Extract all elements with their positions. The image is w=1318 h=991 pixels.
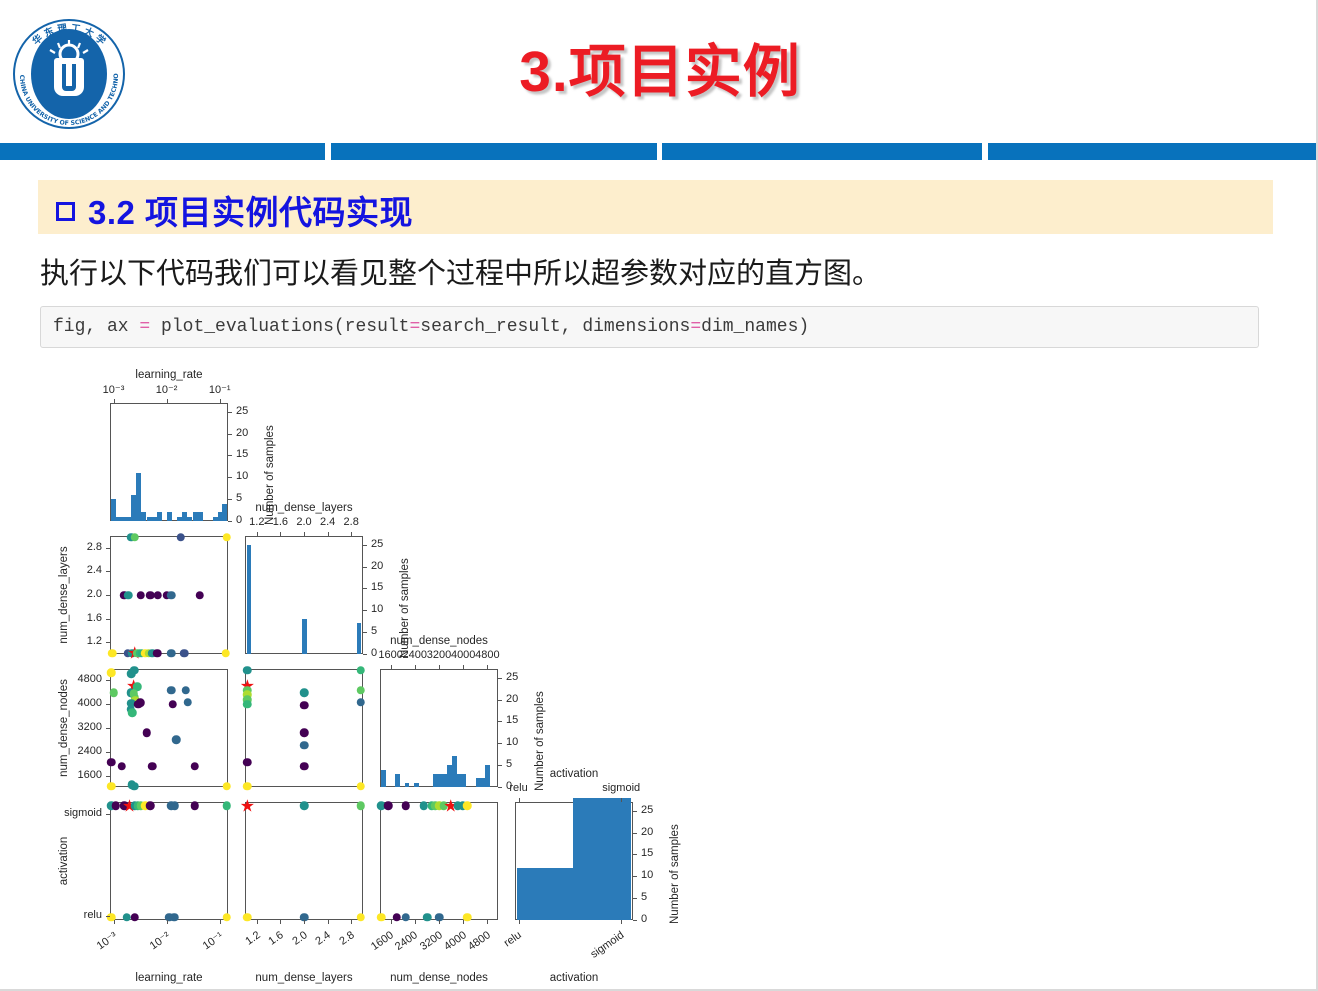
bottom-tick-2-3 bbox=[463, 920, 464, 924]
bottom-tick-2-4 bbox=[487, 920, 488, 924]
code-operator-1: = bbox=[139, 317, 150, 337]
top-ticklabel-0-1: 10⁻² bbox=[156, 383, 178, 396]
top-axis-label-2: num_dense_nodes bbox=[390, 635, 488, 647]
top-ticklabel-3-0: relu bbox=[509, 782, 527, 794]
scatter-point-2-0-24 bbox=[191, 762, 200, 771]
top-axis-label-1: num_dense_layers bbox=[255, 502, 352, 514]
hist-bar-0-22 bbox=[222, 504, 227, 521]
bottom-tick-2-2 bbox=[439, 920, 440, 924]
scatter-point-2-0-22 bbox=[118, 762, 127, 771]
scatter-point-3-0-14 bbox=[122, 913, 131, 922]
code-part-4: dim_names) bbox=[701, 317, 809, 337]
hist-ticklabel-0-0: 0 bbox=[236, 514, 242, 526]
scatter-point-2-1-0 bbox=[243, 666, 252, 675]
hist-bar-3-1 bbox=[573, 798, 631, 920]
scatter-point-3-0-1 bbox=[112, 801, 121, 810]
scatter-point-2-1-5 bbox=[243, 700, 252, 709]
scatter-point-3-0-11 bbox=[191, 801, 200, 810]
hist-tick-2-25 bbox=[498, 678, 502, 679]
scatter-point-3-2-13 bbox=[392, 913, 401, 922]
scatter-point-2-1-10 bbox=[300, 728, 309, 737]
left-ticklabel-1-1: 1.6 bbox=[87, 612, 102, 624]
scatter-point-2-0-14 bbox=[109, 688, 118, 697]
hist-ticklabel-3-25: 25 bbox=[641, 804, 653, 816]
code-line: fig, ax = plot_evaluations(result=search… bbox=[53, 317, 809, 337]
bottom-ticklabel-2-0: 1600 bbox=[369, 929, 396, 953]
hist-tick-1-5 bbox=[363, 632, 367, 633]
scatter-point-3-0-8 bbox=[146, 801, 155, 810]
hist-bar-1-0 bbox=[247, 545, 251, 654]
hist-tick-2-5 bbox=[498, 765, 502, 766]
accent-bar-segment-4 bbox=[988, 143, 1316, 160]
hist-bar-2-16 bbox=[461, 774, 466, 787]
left-axis-label-1: num_dense_layers bbox=[58, 546, 70, 643]
hist-tick-2-10 bbox=[498, 743, 502, 744]
scatter-point-1-0-0 bbox=[108, 649, 117, 658]
page-title: 3.项目实例 bbox=[330, 26, 990, 108]
top-tick-0-1 bbox=[167, 399, 168, 403]
bottom-tick-2-0 bbox=[391, 920, 392, 924]
scatter-point-3-1-1 bbox=[300, 801, 309, 810]
hist-bar-2-5 bbox=[405, 783, 410, 787]
scatter-point-2-0-13 bbox=[128, 708, 137, 717]
scatter-point-3-0-10 bbox=[171, 801, 180, 810]
top-tick-0-2 bbox=[220, 399, 221, 403]
scatter-point-1-0-15 bbox=[124, 591, 133, 600]
top-tick-1-4 bbox=[351, 532, 352, 536]
hist-bar-2-7 bbox=[414, 783, 419, 787]
left-ticklabel-1-4: 2.8 bbox=[87, 541, 102, 553]
left-tick-2-2 bbox=[106, 728, 110, 729]
left-axis-label-3: activation bbox=[58, 837, 70, 886]
hist-ticklabel-1-5: 5 bbox=[371, 625, 377, 637]
histogram-panel-3-3: activationrelusigmoid0510152025Number of… bbox=[515, 802, 633, 920]
top-tick-3-1 bbox=[621, 798, 622, 802]
hist-ticklabel-0-20: 20 bbox=[236, 427, 248, 439]
left-tick-3-1 bbox=[106, 814, 110, 815]
scatter-point-2-0-28 bbox=[223, 782, 232, 791]
scatter-point-3-0-18 bbox=[223, 913, 232, 922]
bottom-ticklabel-2-1: 2400 bbox=[393, 929, 420, 953]
top-axis-label-3: activation bbox=[550, 768, 599, 780]
hist-tick-1-15 bbox=[363, 588, 367, 589]
bottom-ticklabel-0-1: 10⁻² bbox=[147, 929, 172, 952]
bottom-ticklabel-3-1: sigmoid bbox=[589, 929, 627, 961]
hist-tick-1-25 bbox=[363, 545, 367, 546]
hist-tick-0-15 bbox=[228, 455, 232, 456]
hist-bar-3-0 bbox=[517, 868, 572, 920]
hist-bar-2-3 bbox=[395, 774, 400, 787]
left-tick-2-4 bbox=[106, 680, 110, 681]
scatter-point-3-2-17 bbox=[463, 913, 472, 922]
bottom-tick-1-1 bbox=[280, 920, 281, 924]
hist-tick-1-20 bbox=[363, 567, 367, 568]
scatter-point-3-0-17 bbox=[170, 913, 179, 922]
scatter-point-2-1-13 bbox=[356, 666, 365, 675]
scatter-point-1-0-21 bbox=[195, 591, 204, 600]
hist-tick-3-10 bbox=[633, 876, 637, 877]
body-paragraph: 执行以下代码我们可以看见整个过程中所以超参数对应的直方图。 bbox=[40, 250, 881, 292]
top-tick-2-1 bbox=[415, 665, 416, 669]
scatter-point-3-2-15 bbox=[423, 913, 432, 922]
scatter-point-2-0-19 bbox=[142, 728, 151, 737]
bottom-tick-1-3 bbox=[328, 920, 329, 924]
bottom-ticklabel-1-4: 2.8 bbox=[337, 929, 356, 948]
left-tick-1-2 bbox=[106, 595, 110, 596]
scatter-point-2-1-15 bbox=[356, 698, 365, 707]
left-ticklabel-1-0: 1.2 bbox=[87, 635, 102, 647]
left-ticklabel-3-1: sigmoid bbox=[64, 807, 102, 819]
bottom-axis-label-3: activation bbox=[550, 972, 599, 984]
best-result-star-3-1-0: ★ bbox=[240, 797, 255, 814]
hist-ticklabel-2-15: 15 bbox=[506, 714, 518, 726]
bottom-tick-2-1 bbox=[415, 920, 416, 924]
left-tick-2-1 bbox=[106, 752, 110, 753]
left-tick-2-3 bbox=[106, 704, 110, 705]
hist-ticklabel-2-5: 5 bbox=[506, 758, 512, 770]
hist-tick-2-0 bbox=[498, 787, 502, 788]
top-tick-2-0 bbox=[391, 665, 392, 669]
hist-ticklabel-1-25: 25 bbox=[371, 538, 383, 550]
scatter-point-2-1-6 bbox=[243, 758, 252, 767]
hist-bar-0-6 bbox=[141, 512, 146, 521]
hist-ticklabel-1-10: 10 bbox=[371, 603, 383, 615]
scatter-point-1-0-24 bbox=[177, 533, 186, 542]
code-block[interactable]: fig, ax = plot_evaluations(result=search… bbox=[40, 306, 1259, 348]
scatter-point-1-0-11 bbox=[167, 649, 176, 658]
bottom-tick-1-0 bbox=[257, 920, 258, 924]
top-tick-2-3 bbox=[463, 665, 464, 669]
bottom-tick-3-0 bbox=[519, 920, 520, 924]
scatter-point-1-0-10 bbox=[153, 649, 162, 658]
hist-ticklabel-3-10: 10 bbox=[641, 869, 653, 881]
top-tick-3-0 bbox=[519, 798, 520, 802]
histogram-panel-0-0: learning_rate10⁻³10⁻²10⁻¹0510152025Numbe… bbox=[110, 403, 228, 521]
hist-ticklabel-3-5: 5 bbox=[641, 891, 647, 903]
hist-ticklabel-3-20: 20 bbox=[641, 826, 653, 838]
bottom-ticklabel-2-2: 3200 bbox=[418, 929, 445, 953]
hist-bar-2-20 bbox=[485, 765, 490, 787]
scatter-point-3-0-12 bbox=[223, 801, 232, 810]
top-axis-label-0: learning_rate bbox=[135, 369, 202, 381]
panel-frame-0-0 bbox=[110, 403, 228, 521]
hist-ticklabel-0-10: 10 bbox=[236, 470, 248, 482]
left-tick-3-0 bbox=[106, 916, 110, 917]
accent-bar-segment-2 bbox=[331, 143, 657, 160]
hist-tick-3-20 bbox=[633, 833, 637, 834]
hist-ylabel-3: Number of samples bbox=[669, 824, 681, 924]
hist-tick-3-0 bbox=[633, 920, 637, 921]
bottom-axis-label-1: num_dense_layers bbox=[255, 972, 352, 984]
left-ticklabel-1-2: 2.0 bbox=[87, 588, 102, 600]
scatter-panel-3-2: ★num_dense_nodes16002400320040004800 bbox=[380, 802, 498, 920]
scatter-point-1-0-12 bbox=[180, 649, 189, 658]
bottom-ticklabel-3-0: relu bbox=[502, 929, 524, 949]
top-tick-1-2 bbox=[304, 532, 305, 536]
hist-ticklabel-2-20: 20 bbox=[506, 693, 518, 705]
hist-tick-3-15 bbox=[633, 854, 637, 855]
bottom-tick-1-2 bbox=[304, 920, 305, 924]
top-ticklabel-3-1: sigmoid bbox=[602, 782, 640, 794]
histogram-panel-1-1: num_dense_layers1.21.62.02.42.8051015202… bbox=[245, 536, 363, 654]
top-ticklabel-0-2: 10⁻¹ bbox=[209, 383, 231, 396]
hist-bar-2-0 bbox=[381, 770, 386, 787]
top-tick-0-0 bbox=[114, 399, 115, 403]
presentation-slide: 华 东 理 工 大 学 EAST CHINA UNIVERSITY OF SCI… bbox=[0, 0, 1318, 991]
top-ticklabel-1-0: 1.2 bbox=[249, 516, 264, 528]
bottom-tick-0-1 bbox=[167, 920, 168, 924]
scatter-point-2-1-12 bbox=[300, 762, 309, 771]
bottom-tick-1-4 bbox=[351, 920, 352, 924]
hist-ticklabel-2-10: 10 bbox=[506, 736, 518, 748]
left-tick-1-1 bbox=[106, 619, 110, 620]
university-logo: 华 东 理 工 大 学 EAST CHINA UNIVERSITY OF SCI… bbox=[10, 18, 128, 130]
hist-bar-0-0 bbox=[111, 499, 116, 521]
bottom-axis-label-2: num_dense_nodes bbox=[390, 972, 488, 984]
hist-tick-0-0 bbox=[228, 521, 232, 522]
scatter-point-1-0-23 bbox=[131, 533, 140, 542]
left-ticklabel-3-0: relu bbox=[84, 909, 102, 921]
top-ticklabel-1-2: 2.0 bbox=[296, 516, 311, 528]
bottom-tick-3-1 bbox=[621, 920, 622, 924]
top-ticklabel-2-3: 4000 bbox=[451, 649, 475, 661]
accent-bar-segment-3 bbox=[662, 143, 982, 160]
hist-ticklabel-2-25: 25 bbox=[506, 671, 518, 683]
slide-header: 华 东 理 工 大 学 EAST CHINA UNIVERSITY OF SCI… bbox=[0, 0, 1318, 140]
top-ticklabel-1-3: 2.4 bbox=[320, 516, 335, 528]
plot-evaluations-figure: learning_rate10⁻³10⁻²10⁻¹0510152025Numbe… bbox=[40, 368, 740, 978]
bottom-ticklabel-0-2: 10⁻¹ bbox=[200, 929, 225, 952]
panel-frame-3-0 bbox=[110, 802, 228, 920]
scatter-point-2-0-17 bbox=[184, 698, 193, 707]
bottom-tick-0-2 bbox=[220, 920, 221, 924]
left-tick-2-0 bbox=[106, 776, 110, 777]
section-heading-label: 3.2 项目实例代码实现 bbox=[88, 186, 413, 234]
scatter-point-1-0-20 bbox=[167, 591, 176, 600]
scatter-point-2-1-7 bbox=[243, 782, 252, 791]
hist-bar-1-1 bbox=[302, 619, 306, 654]
hist-ticklabel-1-20: 20 bbox=[371, 560, 383, 572]
scatter-point-2-1-9 bbox=[300, 701, 309, 710]
top-ticklabel-2-0: 1600 bbox=[378, 649, 402, 661]
bottom-ticklabel-0-0: 10⁻³ bbox=[94, 929, 119, 952]
hist-tick-0-20 bbox=[228, 434, 232, 435]
histogram-panel-2-2: num_dense_nodes1600240032004000480005101… bbox=[380, 669, 498, 787]
code-operator-3: = bbox=[690, 317, 701, 337]
scatter-panel-1-0: ★num_dense_layers1.21.62.02.42.8 bbox=[110, 536, 228, 654]
hist-tick-0-5 bbox=[228, 499, 232, 500]
scatter-point-3-2-1 bbox=[384, 801, 393, 810]
bottom-ticklabel-2-4: 4800 bbox=[466, 929, 493, 953]
bottom-ticklabel-1-1: 1.6 bbox=[266, 929, 285, 948]
bottom-ticklabel-1-0: 1.2 bbox=[243, 929, 262, 948]
hist-ticklabel-3-15: 15 bbox=[641, 847, 653, 859]
scatter-point-2-0-20 bbox=[172, 736, 181, 745]
scatter-panel-3-0: ★activationrelusigmoidlearning_rate10⁻³1… bbox=[110, 802, 228, 920]
hist-ticklabel-0-15: 15 bbox=[236, 448, 248, 460]
scatter-point-2-0-11 bbox=[136, 698, 145, 707]
scatter-point-2-1-11 bbox=[300, 741, 309, 750]
scatter-point-2-0-23 bbox=[148, 762, 157, 771]
left-ticklabel-2-3: 4000 bbox=[78, 697, 102, 709]
bottom-ticklabel-1-3: 2.4 bbox=[314, 929, 333, 948]
top-ticklabel-2-2: 3200 bbox=[427, 649, 451, 661]
bottom-ticklabel-1-2: 2.0 bbox=[290, 929, 309, 948]
top-tick-2-2 bbox=[439, 665, 440, 669]
scatter-point-2-0-21 bbox=[107, 758, 116, 767]
bottom-tick-0-0 bbox=[114, 920, 115, 924]
top-tick-1-1 bbox=[280, 532, 281, 536]
scatter-point-3-2-12 bbox=[377, 913, 386, 922]
scatter-point-2-0-18 bbox=[168, 700, 177, 709]
top-ticklabel-1-1: 1.6 bbox=[273, 516, 288, 528]
top-ticklabel-1-4: 2.8 bbox=[344, 516, 359, 528]
hist-bar-1-2 bbox=[357, 623, 361, 654]
hist-tick-3-25 bbox=[633, 811, 637, 812]
hist-ticklabel-1-0: 0 bbox=[371, 647, 377, 659]
panel-frame-3-2 bbox=[380, 802, 498, 920]
panel-frame-2-2 bbox=[380, 669, 498, 787]
scatter-point-1-0-25 bbox=[223, 533, 232, 542]
left-ticklabel-2-4: 4800 bbox=[78, 673, 102, 685]
scatter-panel-3-1: ★num_dense_layers1.21.62.02.42.8 bbox=[245, 802, 363, 920]
top-tick-1-3 bbox=[328, 532, 329, 536]
left-tick-1-0 bbox=[106, 642, 110, 643]
accent-bar-segment-1 bbox=[0, 143, 325, 160]
bottom-axis-label-0: learning_rate bbox=[135, 972, 202, 984]
scatter-panel-2-0: ★num_dense_nodes16002400320040004800 bbox=[110, 669, 228, 787]
left-ticklabel-1-3: 2.4 bbox=[87, 564, 102, 576]
left-tick-1-3 bbox=[106, 571, 110, 572]
scatter-point-2-1-14 bbox=[356, 686, 365, 695]
hist-tick-1-10 bbox=[363, 610, 367, 611]
scatter-point-3-1-3 bbox=[243, 913, 252, 922]
scatter-point-1-0-16 bbox=[136, 591, 145, 600]
bullet-square-icon bbox=[56, 202, 75, 221]
hist-bar-0-17 bbox=[198, 512, 203, 521]
top-ticklabel-0-0: 10⁻³ bbox=[103, 383, 125, 396]
left-ticklabel-2-2: 3200 bbox=[78, 721, 102, 733]
left-axis-label-2: num_dense_nodes bbox=[58, 679, 70, 777]
left-tick-1-4 bbox=[106, 548, 110, 549]
hist-ticklabel-0-25: 25 bbox=[236, 405, 248, 417]
top-tick-2-4 bbox=[487, 665, 488, 669]
left-ticklabel-2-0: 1600 bbox=[78, 769, 102, 781]
code-part-1: fig, ax bbox=[53, 317, 139, 337]
scatter-point-3-0-15 bbox=[131, 913, 140, 922]
scatter-point-3-1-5 bbox=[356, 913, 365, 922]
scatter-point-3-2-11 bbox=[463, 801, 472, 810]
hist-ticklabel-3-0: 0 bbox=[641, 913, 647, 925]
top-ticklabel-2-1: 2400 bbox=[403, 649, 427, 661]
scatter-point-3-2-2 bbox=[402, 801, 411, 810]
top-ticklabel-2-4: 4800 bbox=[475, 649, 499, 661]
hist-tick-0-10 bbox=[228, 477, 232, 478]
scatter-point-3-2-3 bbox=[419, 801, 428, 810]
scatter-point-1-0-18 bbox=[154, 591, 163, 600]
hist-bar-0-11 bbox=[167, 512, 172, 521]
scatter-point-2-1-16 bbox=[356, 782, 365, 791]
bottom-ticklabel-2-3: 4000 bbox=[442, 929, 469, 953]
code-part-3: search_result, dimensions bbox=[420, 317, 690, 337]
hist-tick-0-25 bbox=[228, 412, 232, 413]
top-tick-1-0 bbox=[257, 532, 258, 536]
code-part-2: plot_evaluations(result bbox=[150, 317, 409, 337]
panel-frame-3-1 bbox=[245, 802, 363, 920]
hist-tick-2-15 bbox=[498, 721, 502, 722]
scatter-point-2-0-2 bbox=[130, 666, 139, 675]
left-ticklabel-2-1: 2400 bbox=[78, 745, 102, 757]
hist-ticklabel-0-5: 5 bbox=[236, 492, 242, 504]
scatter-point-2-0-15 bbox=[167, 686, 176, 695]
hist-ticklabel-1-15: 15 bbox=[371, 581, 383, 593]
scatter-point-2-0-0 bbox=[107, 668, 116, 677]
scatter-point-3-1-2 bbox=[356, 801, 365, 810]
hist-tick-2-20 bbox=[498, 700, 502, 701]
scatter-point-3-2-14 bbox=[402, 913, 411, 922]
hist-tick-3-5 bbox=[633, 898, 637, 899]
scatter-point-2-0-26 bbox=[130, 782, 139, 791]
scatter-panel-2-1: ★ bbox=[245, 669, 363, 787]
code-operator-2: = bbox=[409, 317, 420, 337]
hist-ylabel-2: Number of samples bbox=[534, 691, 546, 791]
scatter-point-2-0-16 bbox=[181, 686, 190, 695]
scatter-point-2-0-27 bbox=[107, 782, 116, 791]
scatter-point-2-1-8 bbox=[300, 688, 309, 697]
section-heading: 3.2 项目实例代码实现 bbox=[56, 186, 413, 234]
hist-bar-0-9 bbox=[157, 512, 162, 521]
hist-tick-1-0 bbox=[363, 654, 367, 655]
scatter-point-1-0-13 bbox=[221, 649, 230, 658]
